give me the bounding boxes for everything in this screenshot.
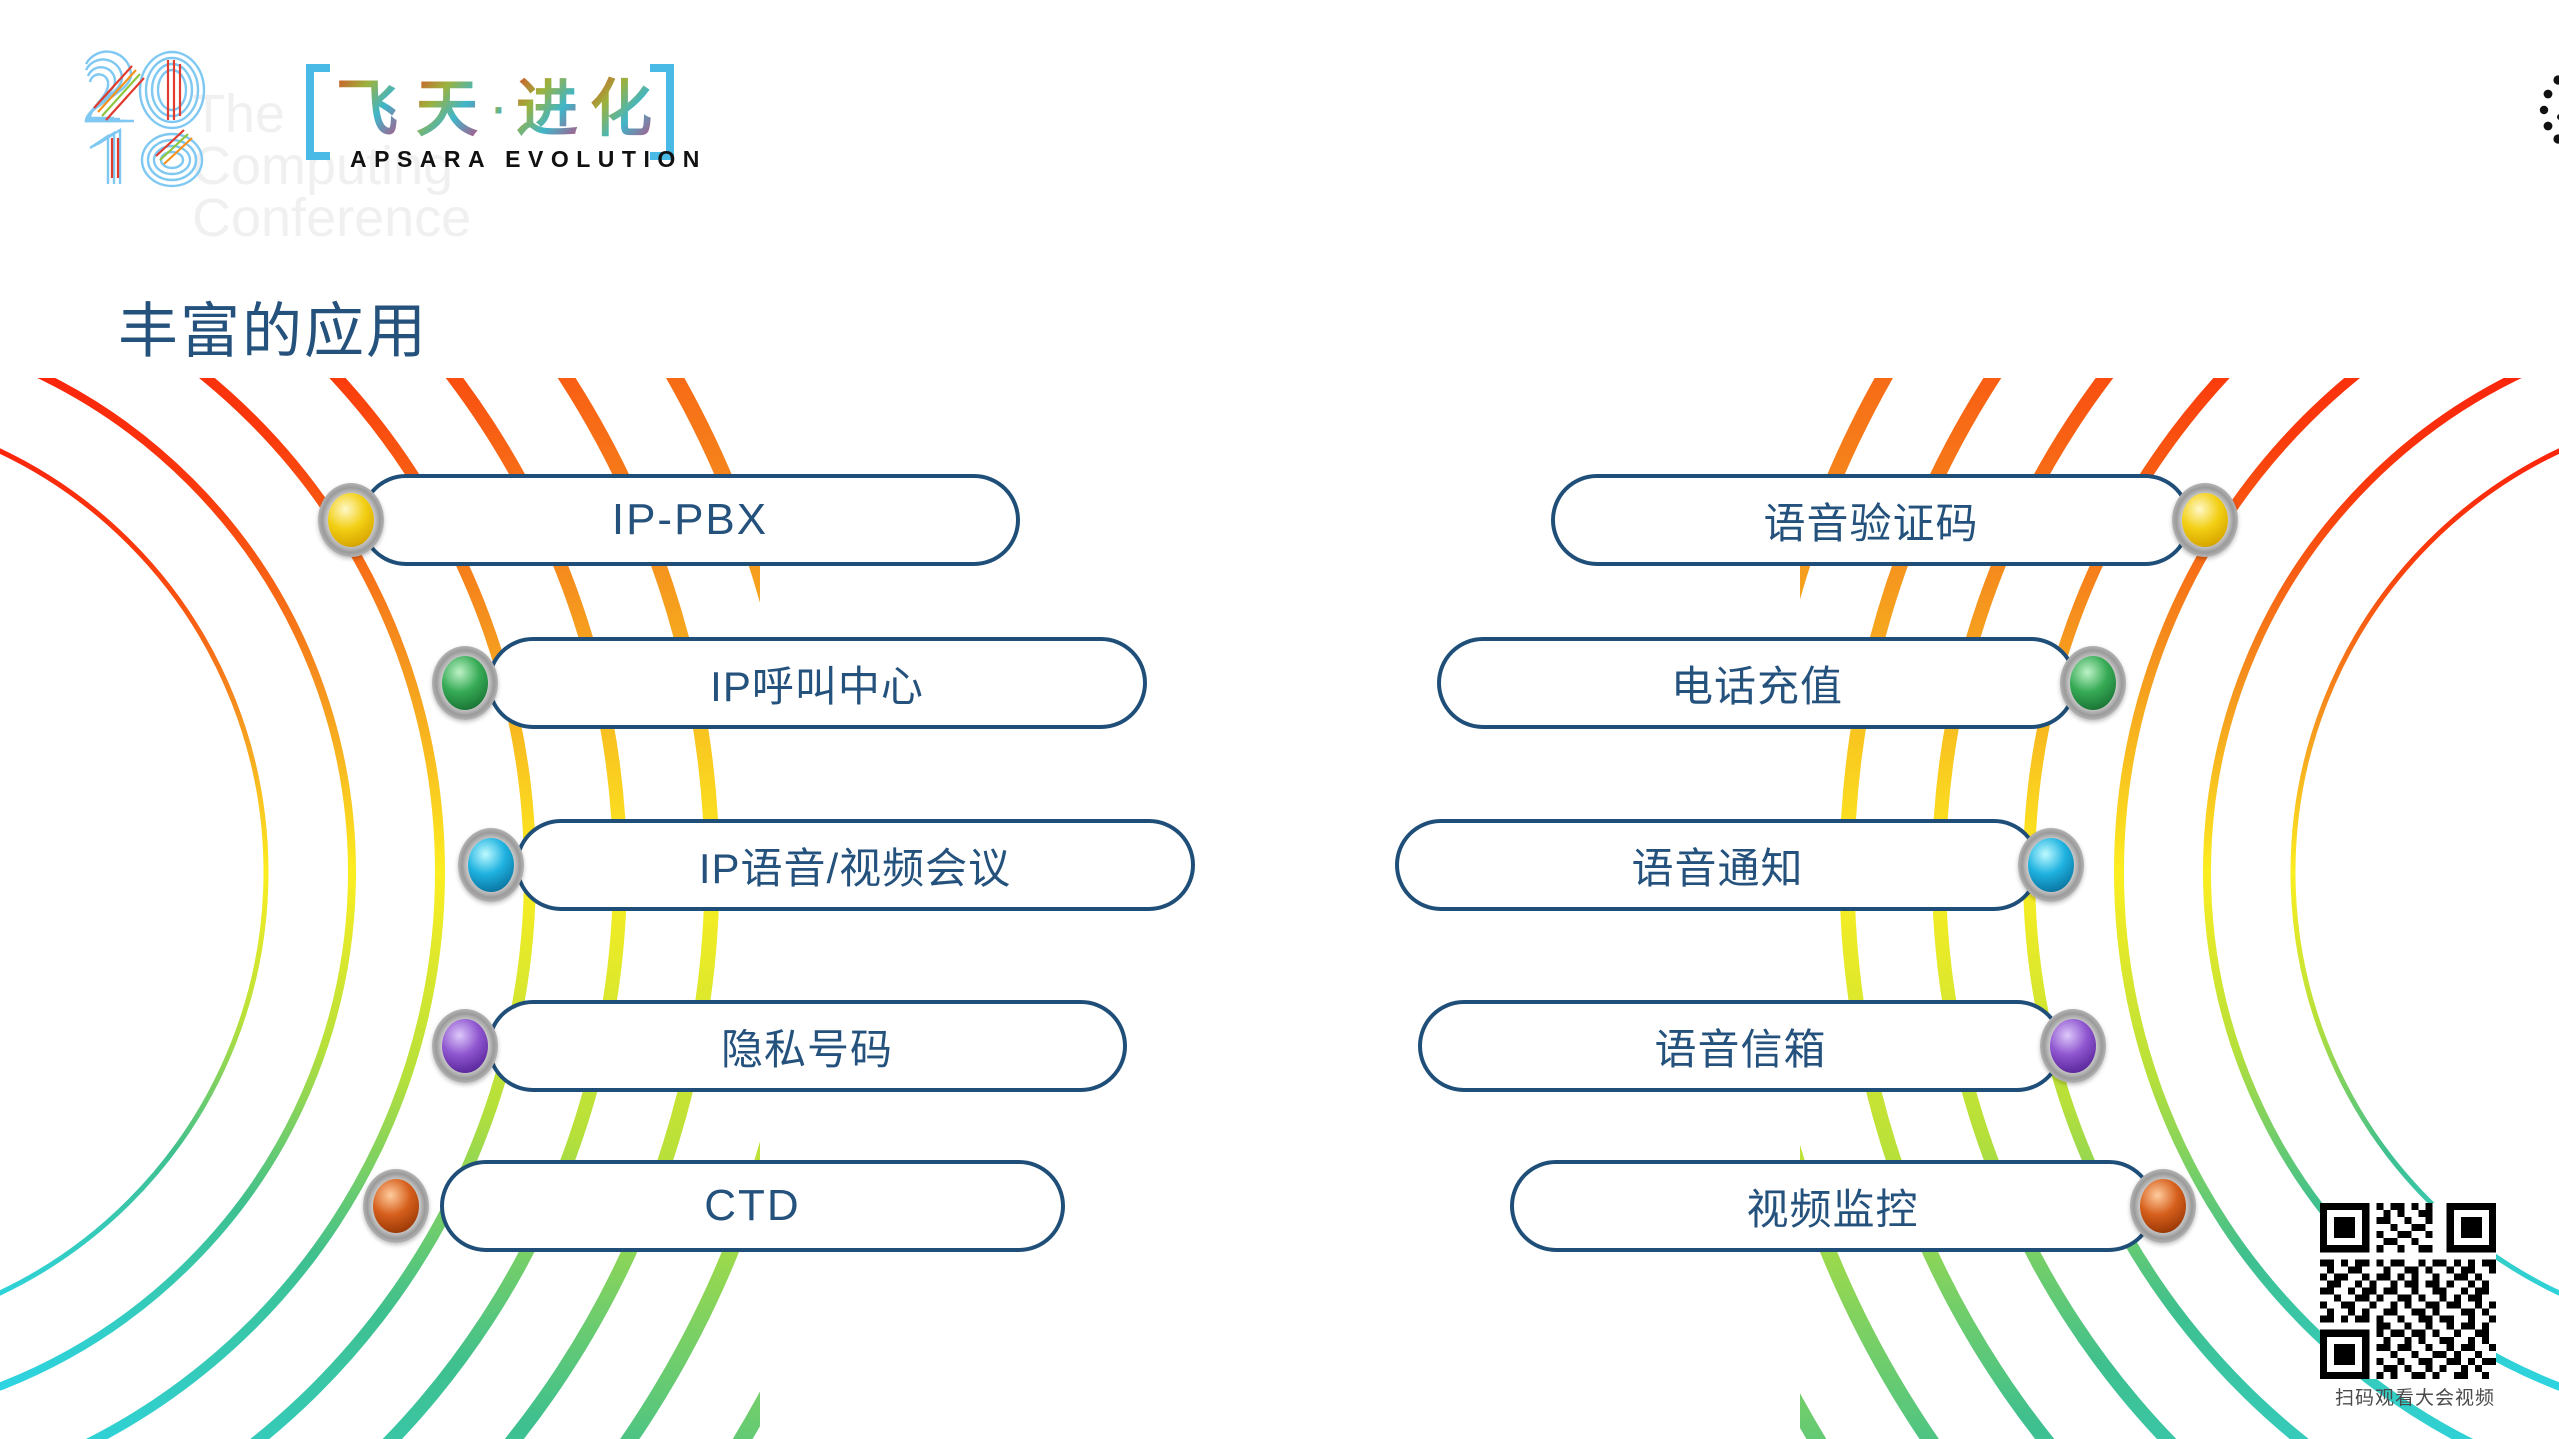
app-pill-left-1[interactable]: IP-PBX (360, 474, 1020, 566)
svg-text:·: · (492, 91, 505, 131)
svg-text:进: 进 (516, 72, 578, 145)
qr-code-image (2320, 1203, 2496, 1379)
app-pill-right-1[interactable]: 语音验证码 (1551, 474, 2191, 566)
qr-code-block: 扫码观看大会视频 (2320, 1203, 2510, 1410)
app-pill-label: IP呼叫中心 (710, 653, 924, 714)
app-dot-left-1 (318, 483, 384, 557)
slide-root: The Computing Conference (0, 0, 2559, 1439)
app-pill-label: CTD (704, 1181, 800, 1231)
app-pill-label: IP语音/视频会议 (699, 835, 1011, 896)
conference-c-mark-icon (2531, 60, 2559, 160)
app-dot-right-2 (2060, 646, 2126, 720)
apsara-evolution-logo: The Computing Conference (72, 38, 672, 188)
svg-text:化: 化 (590, 72, 652, 145)
app-pill-label: 语音信箱 (1654, 1016, 1826, 1077)
app-dot-left-2 (432, 646, 498, 720)
app-pill-label: 隐私号码 (721, 1016, 893, 1077)
app-pill-left-2[interactable]: IP呼叫中心 (487, 637, 1147, 729)
app-pill-label: 视频监控 (1746, 1176, 1918, 1237)
logo-2016-numerals (72, 38, 312, 188)
app-pill-label: 语音通知 (1631, 835, 1803, 896)
page-title: 丰富的应用 (118, 283, 428, 370)
app-dot-right-4 (2040, 1009, 2106, 1083)
app-pill-label: 语音验证码 (1763, 490, 1978, 551)
app-pill-left-3[interactable]: IP语音/视频会议 (515, 819, 1195, 911)
svg-text:飞: 飞 (336, 72, 398, 145)
app-pill-right-4[interactable]: 语音信箱 (1418, 1000, 2063, 1092)
logo-apsara-evolution-text: APSARA EVOLUTION (350, 146, 707, 173)
app-dot-right-5 (2130, 1169, 2196, 1243)
app-pill-right-3[interactable]: 语音通知 (1395, 819, 2040, 911)
app-pill-right-2[interactable]: 电话充值 (1437, 637, 2077, 729)
app-pill-right-5[interactable]: 视频监控 (1510, 1160, 2155, 1252)
app-pill-left-5[interactable]: CTD (440, 1160, 1065, 1252)
app-pill-left-4[interactable]: 隐私号码 (487, 1000, 1127, 1092)
app-pill-label: 电话充值 (1671, 653, 1843, 714)
app-pill-label: IP-PBX (612, 495, 768, 545)
app-dot-right-1 (2172, 483, 2238, 557)
svg-text:天: 天 (416, 72, 478, 145)
app-dot-left-4 (432, 1009, 498, 1083)
qr-code-caption: 扫码观看大会视频 (2320, 1383, 2510, 1410)
app-dot-left-5 (363, 1169, 429, 1243)
app-dot-right-3 (2018, 828, 2084, 902)
app-dot-left-3 (458, 828, 524, 902)
